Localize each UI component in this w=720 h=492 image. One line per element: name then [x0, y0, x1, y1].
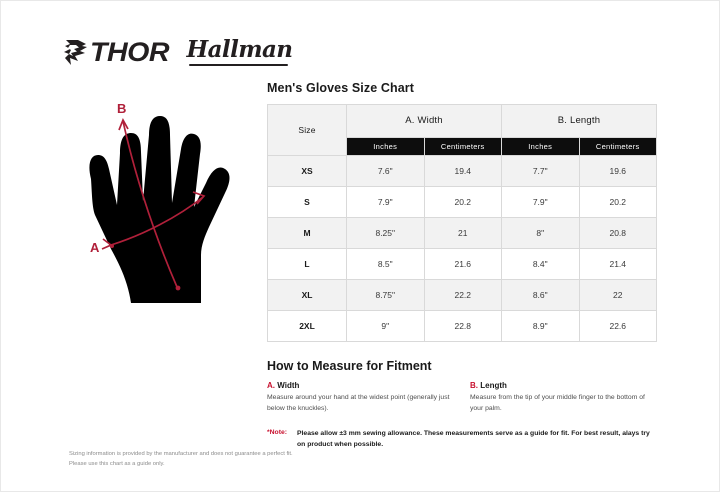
howto-length-name: Length: [480, 381, 507, 390]
cell-length-centimeters: 19.6: [579, 156, 657, 187]
hallman-underline-swash: [189, 64, 289, 66]
cell-width-inches: 9": [347, 311, 425, 342]
label-a: A: [90, 240, 100, 255]
cell-length-inches: 8": [502, 218, 580, 249]
footer-line-2: Please use this chart as a guide only.: [69, 459, 399, 469]
header-group-width: A. Width: [347, 105, 502, 138]
cell-size: XS: [268, 156, 347, 187]
cell-width-inches: 8.75": [347, 280, 425, 311]
chart-column: Men's Gloves Size Chart Size A. Width B.…: [267, 81, 659, 450]
cell-size: S: [268, 187, 347, 218]
measure-b-endpoint: [176, 286, 181, 291]
table-header-row-groups: Size A. Width B. Length: [268, 105, 657, 138]
howto-length-letter: B.: [470, 381, 478, 390]
hallman-logo: Hallman: [187, 38, 293, 66]
hand-silhouette-icon: [89, 116, 229, 303]
cell-width-centimeters: 22.8: [424, 311, 502, 342]
size-chart-table: Size A. Width B. Length Inches Centimete…: [267, 104, 657, 342]
cell-width-inches: 8.25": [347, 218, 425, 249]
hallman-wordmark: Hallman: [187, 36, 293, 63]
thor-logo: THOR: [63, 39, 165, 66]
footer-line-1: Sizing information is provided by the ma…: [69, 449, 399, 459]
cell-length-centimeters: 21.4: [579, 249, 657, 280]
cell-width-centimeters: 21.6: [424, 249, 502, 280]
howto-width-body: Measure around your hand at the widest p…: [267, 393, 454, 414]
howto-length-heading: B. Length: [470, 381, 657, 390]
cell-length-inches: 7.7": [502, 156, 580, 187]
hand-measurement-diagram: A B: [73, 97, 263, 319]
cell-width-inches: 7.6": [347, 156, 425, 187]
header-width-centimeters: Centimeters: [424, 137, 502, 155]
cell-width-inches: 8.5": [347, 249, 425, 280]
cell-width-inches: 7.9": [347, 187, 425, 218]
cell-width-centimeters: 21: [424, 218, 502, 249]
thor-hammer-mark-icon: [63, 39, 89, 66]
howto-length-block: B. Length Measure from the tip of your m…: [470, 381, 657, 414]
howto-title: How to Measure for Fitment: [267, 359, 659, 373]
howto-columns: A. Width Measure around your hand at the…: [267, 381, 657, 414]
howto-width-heading: A. Width: [267, 381, 454, 390]
header-size: Size: [268, 105, 347, 156]
cell-length-inches: 8.9": [502, 311, 580, 342]
thor-wordmark: THOR: [90, 39, 169, 66]
cell-size: XL: [268, 280, 347, 311]
measure-a-endpoint: [110, 244, 114, 248]
header-length-centimeters: Centimeters: [579, 137, 657, 155]
cell-size: 2XL: [268, 311, 347, 342]
cell-length-centimeters: 20.8: [579, 218, 657, 249]
cell-length-inches: 8.6": [502, 280, 580, 311]
cell-size: M: [268, 218, 347, 249]
cell-length-inches: 7.9": [502, 187, 580, 218]
hand-diagram-svg: A B: [73, 97, 263, 319]
table-row: XL 8.75" 22.2 8.6" 22: [268, 280, 657, 311]
table-row: L 8.5" 21.6 8.4" 21.4: [268, 249, 657, 280]
table-row: XS 7.6" 19.4 7.7" 19.6: [268, 156, 657, 187]
cell-width-centimeters: 19.4: [424, 156, 502, 187]
brand-lockup: THOR Hallman: [63, 33, 292, 71]
cell-size: L: [268, 249, 347, 280]
cell-width-centimeters: 22.2: [424, 280, 502, 311]
header-length-inches: Inches: [502, 137, 580, 155]
header-group-length: B. Length: [502, 105, 657, 138]
howto-width-name: Width: [277, 381, 299, 390]
header-width-inches: Inches: [347, 137, 425, 155]
footer-disclaimer: Sizing information is provided by the ma…: [69, 449, 399, 469]
table-row: M 8.25" 21 8" 20.8: [268, 218, 657, 249]
note-label: *Note:: [267, 429, 297, 450]
table-head: Size A. Width B. Length Inches Centimete…: [268, 105, 657, 156]
size-chart-page: THOR Hallman A B: [0, 0, 720, 492]
cell-length-inches: 8.4": [502, 249, 580, 280]
cell-length-centimeters: 20.2: [579, 187, 657, 218]
howto-length-body: Measure from the tip of your middle fing…: [470, 393, 657, 414]
label-b: B: [117, 101, 126, 116]
cell-length-centimeters: 22: [579, 280, 657, 311]
note-block: *Note: Please allow ±3 mm sewing allowan…: [267, 429, 657, 450]
howto-width-block: A. Width Measure around your hand at the…: [267, 381, 454, 414]
cell-length-centimeters: 22.6: [579, 311, 657, 342]
note-text: Please allow ±3 mm sewing allowance. The…: [297, 429, 657, 450]
page-title: Men's Gloves Size Chart: [267, 81, 659, 95]
table-body: XS 7.6" 19.4 7.7" 19.6 S 7.9" 20.2 7.9" …: [268, 156, 657, 342]
table-row: S 7.9" 20.2 7.9" 20.2: [268, 187, 657, 218]
cell-width-centimeters: 20.2: [424, 187, 502, 218]
table-row: 2XL 9" 22.8 8.9" 22.6: [268, 311, 657, 342]
howto-width-letter: A.: [267, 381, 275, 390]
